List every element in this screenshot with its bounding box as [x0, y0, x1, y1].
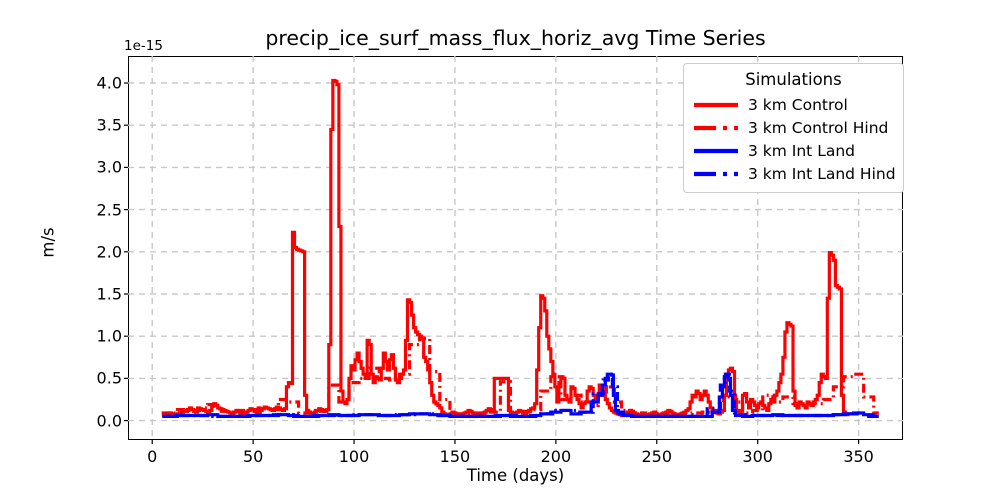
legend-entry-label: 3 km Int Land Hind: [748, 165, 896, 183]
legend-entry-label: 3 km Int Land: [748, 142, 855, 160]
legend-entry-label: 3 km Control Hind: [748, 119, 888, 137]
legend-line-sample: [693, 144, 739, 158]
legend[interactable]: Simulations 3 km Control3 km Control Hin…: [683, 63, 904, 193]
series-line-1: [162, 339, 878, 415]
legend-entry[interactable]: 3 km Control: [693, 93, 894, 116]
legend-entry[interactable]: 3 km Int Land: [693, 139, 894, 162]
figure: precip_ice_surf_mass_flux_horiz_avg Time…: [0, 0, 1000, 500]
legend-title: Simulations: [693, 70, 894, 89]
legend-entry-label: 3 km Control: [748, 96, 848, 114]
legend-line-sample: [693, 121, 739, 135]
legend-line-sample: [693, 167, 739, 181]
legend-line-sample: [693, 98, 739, 112]
legend-entry[interactable]: 3 km Int Land Hind: [693, 162, 894, 185]
legend-entries: 3 km Control3 km Control Hind3 km Int La…: [693, 93, 894, 185]
legend-entry[interactable]: 3 km Control Hind: [693, 116, 894, 139]
